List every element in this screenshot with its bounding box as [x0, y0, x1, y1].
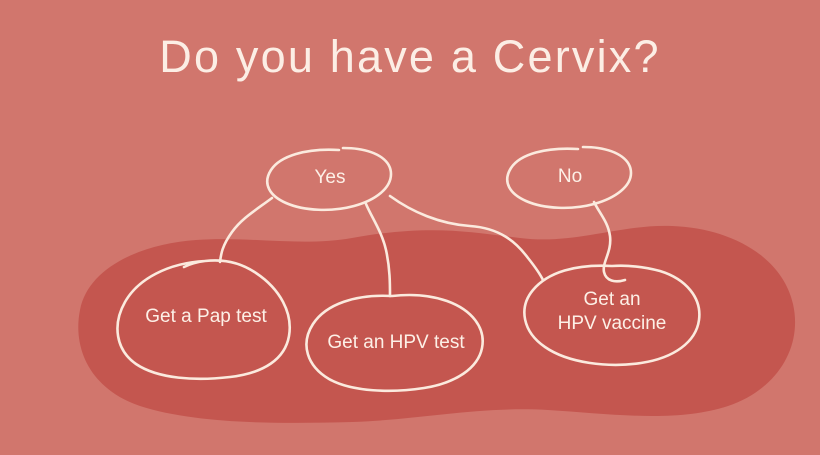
connector-yes-to-hpv-vaccine [390, 196, 543, 280]
bubble-no [507, 147, 631, 208]
flowchart-graphic [0, 0, 820, 455]
infographic-canvas: Do you have a Cervix? Yes No Get a [0, 0, 820, 455]
connector-yes-to-pap [220, 198, 272, 262]
bubble-yes [267, 148, 391, 210]
bubble-hpv-test [306, 295, 482, 391]
connector-no-to-hpv-vaccine [594, 202, 625, 281]
connector-yes-to-hpv-test [366, 204, 390, 296]
bubble-pap-test [117, 260, 289, 378]
